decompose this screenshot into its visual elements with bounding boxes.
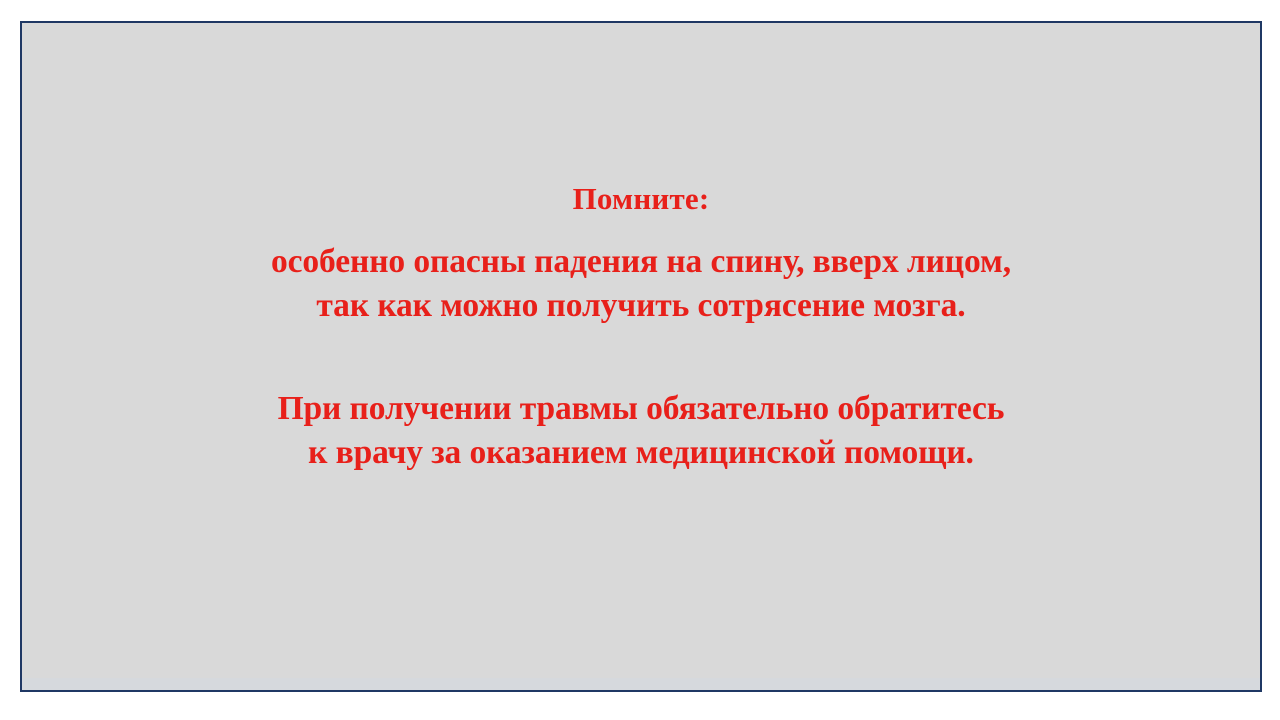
warning-paragraph-danger-line-1: особенно опасны падения на спину, вверх … [22,240,1260,284]
warning-paragraph-medical-help: При получении травмы обязательно обратит… [22,387,1260,475]
slide-heading-remember: Помните: [22,178,1260,220]
slide-frame: Помните: особенно опасны падения на спин… [20,21,1262,692]
slide-canvas: Помните: особенно опасны падения на спин… [0,0,1280,720]
warning-paragraph-danger-line-2: так как можно получить сотрясение мозга. [22,284,1260,328]
slide-content-area: Помните: особенно опасны падения на спин… [22,23,1260,690]
warning-paragraph-medical-help-line-1: При получении травмы обязательно обратит… [22,387,1260,431]
warning-paragraph-danger: особенно опасны падения на спину, вверх … [22,240,1260,328]
warning-paragraph-medical-help-line-2: к врачу за оказанием медицинской помощи. [22,431,1260,475]
